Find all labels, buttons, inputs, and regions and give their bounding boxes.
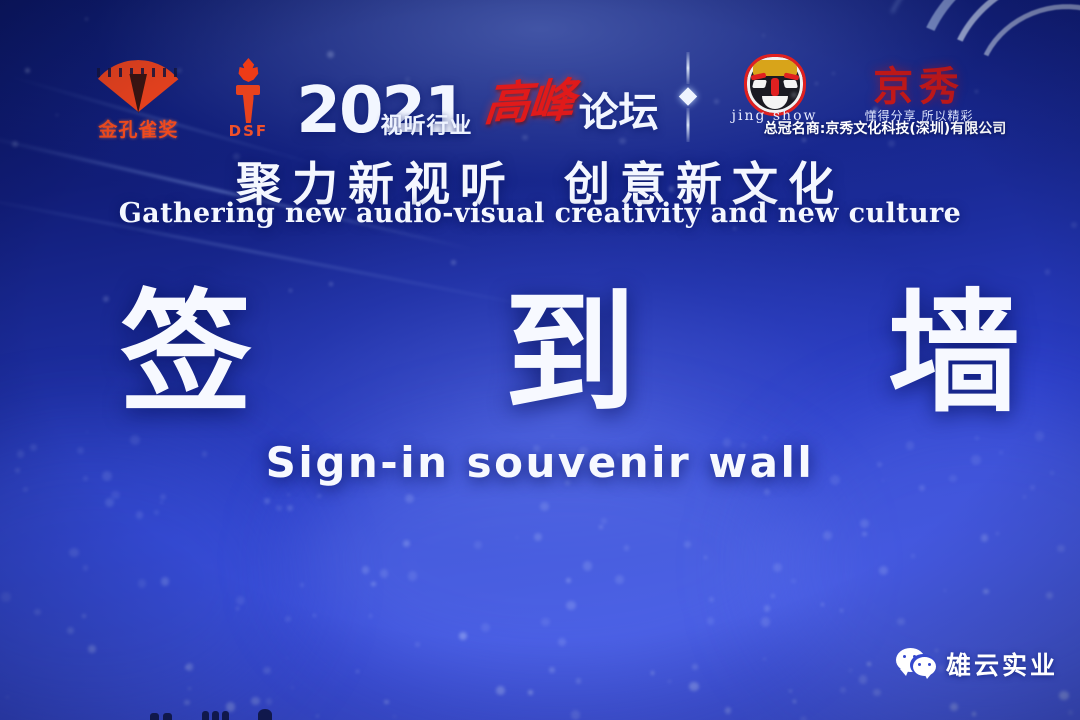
bokeh-particle xyxy=(800,716,807,720)
bokeh-particle xyxy=(975,436,979,440)
jingxiu-chinese-label: 京秀 xyxy=(837,54,1002,112)
bokeh-particle xyxy=(830,475,840,485)
event-forum-label: 论坛 xyxy=(579,80,659,138)
bokeh-particle xyxy=(566,578,571,583)
bokeh-particle xyxy=(365,470,372,477)
bokeh-particle xyxy=(551,435,553,437)
bokeh-particle xyxy=(161,577,169,585)
event-backdrop-stage: 金孔雀奖 DSF 2021 视听行业 高峰 论坛 xyxy=(0,0,1080,720)
bokeh-particle xyxy=(233,153,240,160)
bokeh-particle xyxy=(69,548,79,558)
diamond-divider-icon xyxy=(659,52,717,144)
bokeh-particle xyxy=(405,77,410,82)
wechat-icon xyxy=(896,648,936,680)
bokeh-particle xyxy=(919,485,925,491)
bokeh-particle xyxy=(67,627,75,635)
bokeh-particle xyxy=(733,227,736,230)
bokeh-particle xyxy=(704,556,707,559)
bokeh-particle xyxy=(403,540,409,546)
headline-chinese: 签 到 墙 xyxy=(120,288,1020,420)
bokeh-particle xyxy=(236,607,239,610)
bokeh-particle xyxy=(105,498,114,507)
bokeh-particle xyxy=(300,583,304,587)
dsf-label: DSF xyxy=(212,122,284,140)
bokeh-particle xyxy=(879,566,888,575)
bokeh-particle xyxy=(624,545,629,550)
bokeh-particle xyxy=(996,532,1000,536)
bokeh-particle xyxy=(251,697,259,705)
bokeh-particle xyxy=(1046,592,1053,599)
bokeh-particle xyxy=(474,541,482,549)
bokeh-particle xyxy=(723,438,732,447)
bokeh-particle xyxy=(86,431,88,433)
bokeh-particle xyxy=(286,657,288,659)
bokeh-particle xyxy=(371,582,375,586)
bokeh-particle xyxy=(764,489,770,495)
bokeh-particle xyxy=(1045,269,1050,274)
bottom-cropped-text xyxy=(150,708,370,720)
headline-english: Sign-in souvenir wall xyxy=(0,438,1080,487)
headline-char-3: 墙 xyxy=(888,288,1020,420)
bokeh-particle xyxy=(317,494,321,498)
bokeh-particle xyxy=(599,525,602,528)
bokeh-particle xyxy=(459,632,467,640)
bokeh-particle xyxy=(533,445,540,452)
bokeh-particle xyxy=(867,662,871,666)
bokeh-particle xyxy=(840,687,846,693)
bokeh-particle xyxy=(369,614,373,618)
bokeh-particle xyxy=(312,451,315,454)
bokeh-particle xyxy=(541,618,550,627)
bokeh-particle xyxy=(1068,710,1073,715)
bokeh-particle xyxy=(763,658,766,661)
bokeh-particle xyxy=(862,532,867,537)
bokeh-particle xyxy=(496,686,505,695)
bokeh-particle xyxy=(384,700,389,705)
bokeh-particle xyxy=(971,455,981,465)
bokeh-particle xyxy=(1023,495,1027,499)
bokeh-particle xyxy=(528,690,533,695)
bokeh-particle xyxy=(999,451,1002,454)
torch-cup-icon xyxy=(236,85,260,95)
bokeh-particle xyxy=(184,700,190,706)
bokeh-particle xyxy=(154,510,160,516)
bokeh-particle xyxy=(415,642,420,647)
bokeh-particle xyxy=(102,471,112,481)
bokeh-particle xyxy=(815,82,818,85)
bokeh-particle xyxy=(111,491,119,499)
bokeh-particle xyxy=(289,289,292,292)
bokeh-particle xyxy=(911,554,915,558)
bokeh-particle xyxy=(549,667,555,673)
bokeh-particle xyxy=(669,186,675,192)
bokeh-particle xyxy=(972,712,976,716)
bokeh-particle xyxy=(1050,471,1054,475)
bokeh-particle xyxy=(565,480,571,486)
event-title-logo: 2021 视听行业 高峰 论坛 xyxy=(296,52,658,144)
bokeh-particle xyxy=(25,68,30,73)
bokeh-particle xyxy=(88,645,96,653)
bokeh-particle xyxy=(287,505,293,511)
bokeh-particle xyxy=(540,502,549,511)
bokeh-particle xyxy=(236,596,245,605)
bokeh-particle xyxy=(975,90,978,93)
bokeh-particle xyxy=(981,534,989,542)
bokeh-particle xyxy=(764,605,771,612)
bokeh-particle xyxy=(534,533,543,542)
bokeh-particle xyxy=(177,68,182,73)
bokeh-particle xyxy=(897,618,904,625)
bokeh-particle xyxy=(709,597,714,602)
slogan-english: Gathering new audio-visual creativity an… xyxy=(0,198,1080,229)
bokeh-particle xyxy=(291,686,294,689)
bokeh-particle xyxy=(313,614,316,617)
bokeh-particle xyxy=(576,678,581,683)
bokeh-particle xyxy=(668,680,671,683)
award-label: 金孔雀奖 xyxy=(78,115,198,142)
bokeh-particle xyxy=(6,696,9,699)
bokeh-particle xyxy=(950,703,958,711)
bokeh-particle xyxy=(771,594,776,599)
bokeh-particle xyxy=(408,571,418,581)
bokeh-particle xyxy=(619,138,625,144)
bokeh-particle xyxy=(558,638,566,646)
bokeh-particle xyxy=(1030,485,1035,490)
bokeh-particle xyxy=(138,579,147,588)
bokeh-particle xyxy=(380,569,389,578)
bokeh-particle xyxy=(329,282,333,286)
golden-peacock-award-logo: 金孔雀奖 xyxy=(78,52,198,144)
torch-handle-icon xyxy=(243,95,254,123)
bokeh-particle xyxy=(689,682,698,691)
bokeh-particle xyxy=(877,462,882,467)
bokeh-particle xyxy=(578,104,583,109)
peking-opera-mask-icon xyxy=(744,54,806,116)
bokeh-particle xyxy=(481,623,490,632)
bokeh-particle xyxy=(405,494,414,503)
bokeh-particle xyxy=(791,579,796,584)
bokeh-particle xyxy=(579,447,587,455)
bokeh-particle xyxy=(983,589,988,594)
bokeh-particle xyxy=(202,451,207,456)
bokeh-particle xyxy=(516,536,518,538)
bokeh-particle xyxy=(707,617,715,625)
bokeh-particle xyxy=(888,140,895,147)
bokeh-particle xyxy=(571,710,580,719)
bokeh-particle xyxy=(761,617,770,626)
bokeh-particle xyxy=(651,671,655,675)
bokeh-particle xyxy=(451,260,456,265)
bokeh-particle xyxy=(583,561,592,570)
bokeh-particle xyxy=(276,505,282,511)
bokeh-particle xyxy=(263,667,271,675)
bokeh-particle xyxy=(17,450,24,457)
bokeh-particle xyxy=(362,566,370,574)
bokeh-particle xyxy=(566,601,576,611)
bokeh-particle xyxy=(34,609,41,616)
bokeh-particle xyxy=(136,511,143,518)
bokeh-particle xyxy=(85,18,87,20)
bokeh-particle xyxy=(762,34,765,37)
bokeh-particle xyxy=(944,589,947,592)
bokeh-particle xyxy=(393,715,396,718)
bokeh-particle xyxy=(285,616,291,622)
bokeh-particle xyxy=(264,498,269,503)
bokeh-particle xyxy=(849,669,851,671)
event-summit-label: 高峰 xyxy=(481,64,575,135)
bokeh-particle xyxy=(860,519,869,528)
sponsor-line: 总冠名商:京秀文化科技(深圳)有限公司 xyxy=(760,118,1010,138)
bokeh-particle xyxy=(160,494,166,500)
bokeh-particle xyxy=(1071,222,1077,228)
bokeh-particle xyxy=(1059,691,1069,701)
bokeh-particle xyxy=(859,675,868,684)
bokeh-particle xyxy=(160,501,163,504)
bokeh-particle xyxy=(949,475,957,483)
bokeh-particle xyxy=(821,603,824,606)
bokeh-particle xyxy=(188,687,191,690)
bokeh-particle xyxy=(873,107,879,113)
bokeh-particle xyxy=(714,99,719,104)
bokeh-particle xyxy=(130,435,140,445)
bokeh-particle xyxy=(1035,431,1044,440)
bokeh-particle xyxy=(82,614,86,618)
bokeh-particle xyxy=(83,565,89,571)
bokeh-particle xyxy=(287,493,290,496)
bokeh-particle xyxy=(356,670,359,673)
bokeh-particle xyxy=(873,689,881,697)
bokeh-particle xyxy=(615,575,624,584)
bokeh-particle xyxy=(83,476,88,481)
bokeh-particle xyxy=(684,541,691,548)
bokeh-particle xyxy=(692,664,698,670)
bokeh-particle xyxy=(601,518,607,524)
bokeh-particle xyxy=(840,609,844,613)
bokeh-particle xyxy=(15,468,19,472)
bokeh-particle xyxy=(823,531,832,540)
dsf-logo: DSF xyxy=(212,52,284,144)
headline-char-2: 到 xyxy=(504,288,636,420)
bokeh-particle xyxy=(23,487,28,492)
headline-char-1: 签 xyxy=(120,288,252,420)
bokeh-particle xyxy=(789,690,791,692)
watermark: 雄云实业 xyxy=(896,646,1058,682)
bokeh-particle xyxy=(1,592,11,602)
torch-icon xyxy=(235,58,261,88)
bokeh-particle xyxy=(793,700,796,703)
bokeh-particle xyxy=(103,296,109,302)
bokeh-particle xyxy=(327,51,334,58)
event-industry-label: 视听行业 xyxy=(381,108,473,140)
bokeh-particle xyxy=(266,698,272,704)
bokeh-particle xyxy=(741,443,745,447)
bokeh-particle xyxy=(773,563,783,573)
bokeh-particle xyxy=(1057,545,1064,552)
bokeh-particle xyxy=(725,707,731,713)
bokeh-particle xyxy=(617,453,621,457)
watermark-label: 雄云实业 xyxy=(946,646,1058,682)
